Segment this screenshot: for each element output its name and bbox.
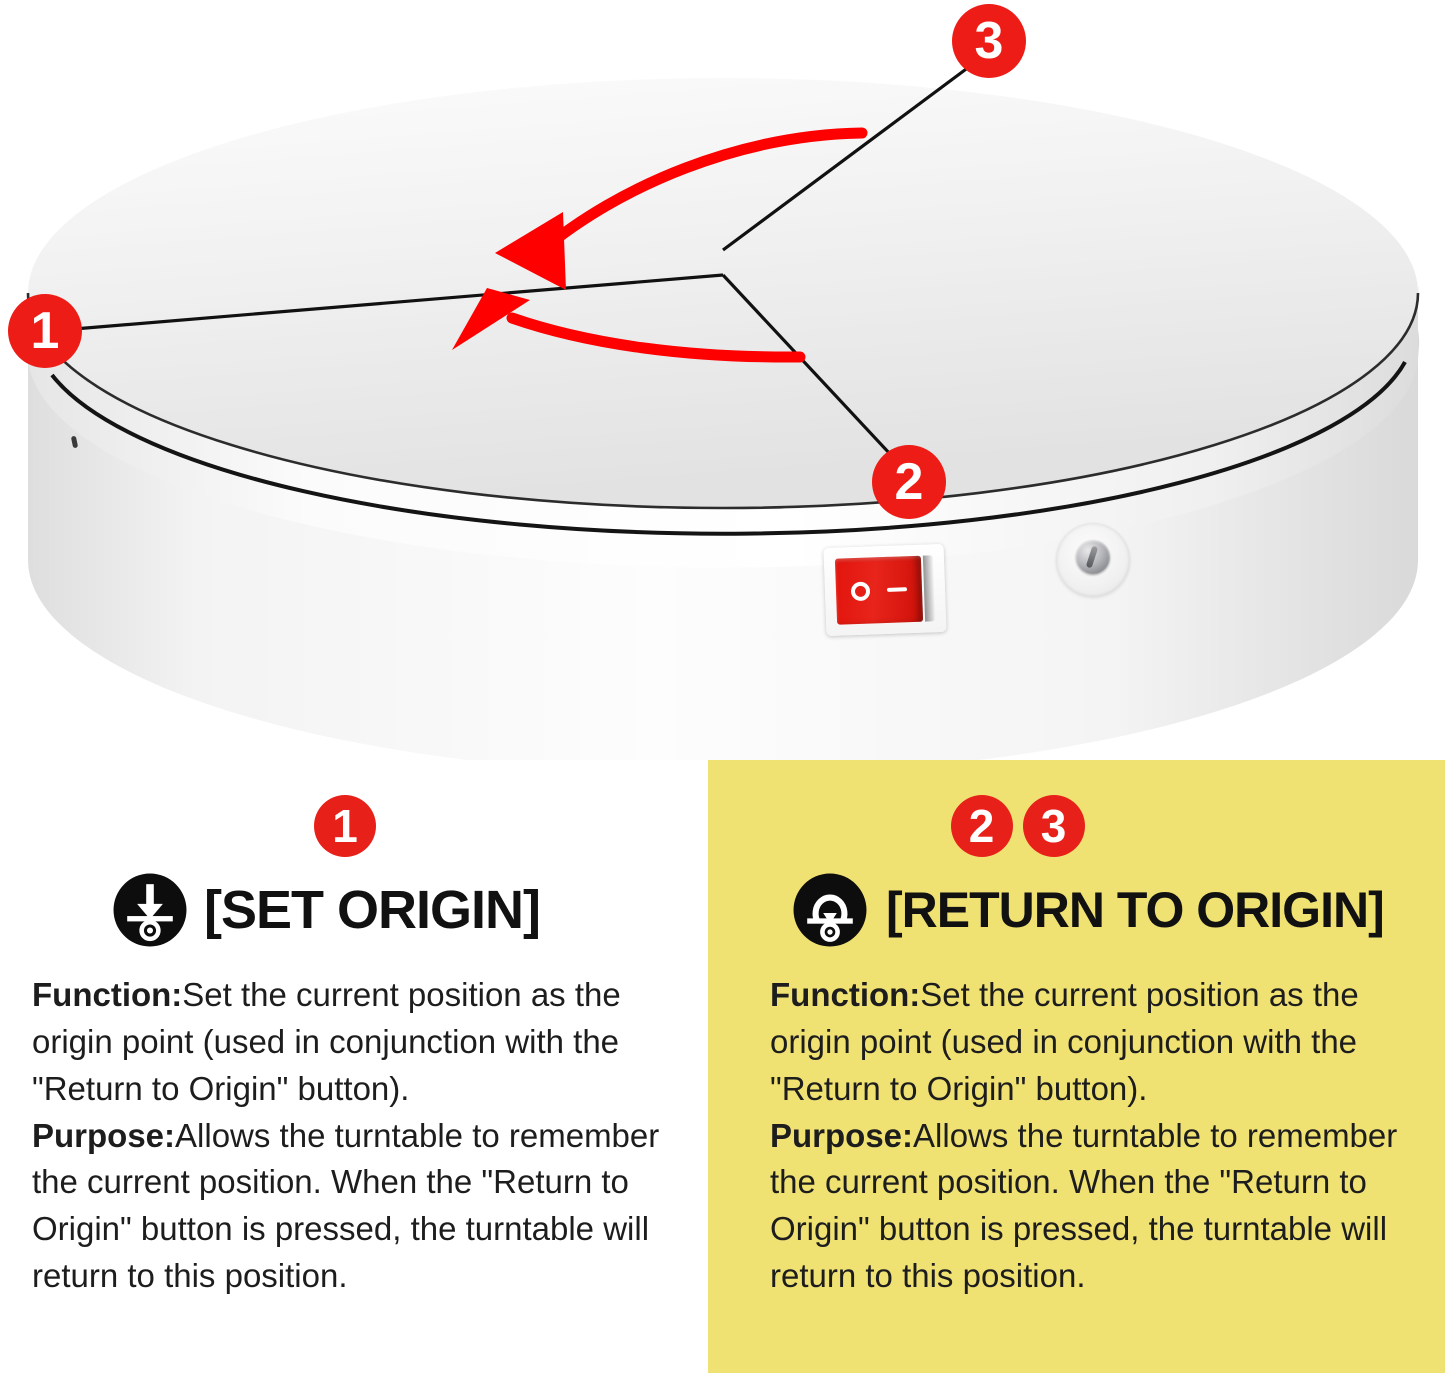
badge-row-set-origin: 1 xyxy=(26,790,674,862)
return-to-origin-icon xyxy=(792,872,868,948)
panel-set-origin: 1 [SET ORIGIN] Function:Set the current … xyxy=(0,760,708,1373)
photo-marker-2[interactable]: 2 xyxy=(872,445,946,519)
function-label-return-origin: Function: xyxy=(770,976,920,1013)
badge-row-return-origin: 2 3 xyxy=(770,790,1415,862)
dc-power-port[interactable] xyxy=(1056,523,1130,597)
panel-return-to-origin: 2 3 [RETURN TO ORIGIN] Function:Set the … xyxy=(708,760,1445,1373)
purpose-label-return-origin: Purpose: xyxy=(770,1117,913,1154)
turntable-illustration xyxy=(0,0,1445,760)
function-label-set-origin: Function: xyxy=(32,976,182,1013)
step-badge-2: 2 xyxy=(951,795,1013,857)
power-rocker-switch[interactable] xyxy=(824,544,947,636)
set-origin-icon xyxy=(112,872,188,948)
photo-marker-1[interactable]: 1 xyxy=(8,294,82,368)
body-set-origin: Function:Set the current position as the… xyxy=(26,972,692,1300)
switch-bevel-shadow xyxy=(923,555,935,621)
purpose-paragraph-return-origin: Purpose:Allows the turntable to remember… xyxy=(770,1113,1430,1300)
panel-title-set-origin: [SET ORIGIN] xyxy=(204,883,540,937)
purpose-label-set-origin: Purpose: xyxy=(32,1117,175,1154)
body-return-origin: Function:Set the current position as the… xyxy=(770,972,1430,1300)
step-badge-3: 3 xyxy=(1023,795,1085,857)
dc-power-port-slot-icon xyxy=(1086,546,1099,569)
function-paragraph-set-origin: Function:Set the current position as the… xyxy=(32,972,692,1113)
switch-rocker-face[interactable] xyxy=(835,556,923,625)
heading-return-origin: [RETURN TO ORIGIN] xyxy=(770,872,1415,948)
photo-marker-3[interactable]: 3 xyxy=(952,4,1026,78)
power-on-circle-icon xyxy=(850,581,870,601)
info-panels: 1 [SET ORIGIN] Function:Set the current … xyxy=(0,760,1445,1373)
product-photo: 1 2 3 xyxy=(0,0,1445,760)
dc-power-port-inner xyxy=(1076,540,1110,574)
power-off-dash-icon xyxy=(887,587,907,592)
panel-title-return-origin: [RETURN TO ORIGIN] xyxy=(886,885,1384,935)
function-paragraph-return-origin: Function:Set the current position as the… xyxy=(770,972,1430,1113)
step-badge-1: 1 xyxy=(314,795,376,857)
purpose-paragraph-set-origin: Purpose:Allows the turntable to remember… xyxy=(32,1113,692,1300)
heading-set-origin: [SET ORIGIN] xyxy=(26,872,674,948)
